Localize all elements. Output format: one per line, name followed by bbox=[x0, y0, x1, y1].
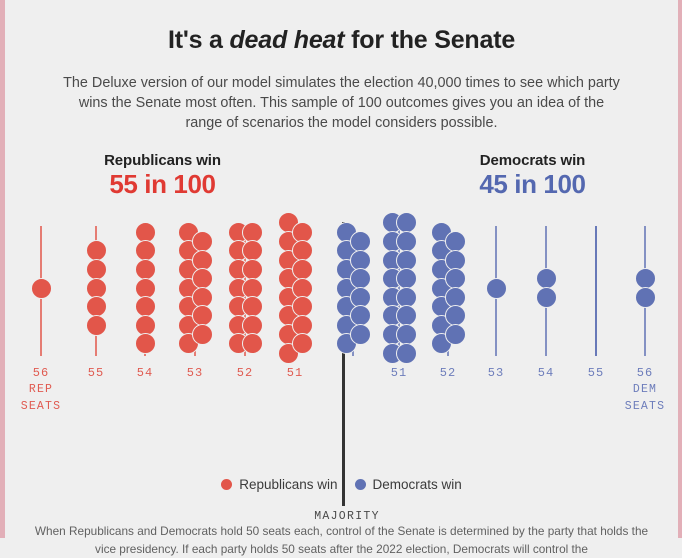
outcome-dot bbox=[635, 287, 656, 308]
legend-item-label: Democrats win bbox=[373, 477, 462, 492]
dot-column-dem-56[interactable] bbox=[623, 218, 667, 468]
win-callouts: Republicans win 55 in 100 Democrats win … bbox=[5, 152, 678, 218]
column-dots bbox=[223, 218, 267, 356]
dot-column-rep-55[interactable] bbox=[74, 218, 118, 468]
dot-column-rep-56[interactable] bbox=[19, 218, 63, 468]
dot-column-rep-52[interactable] bbox=[223, 218, 267, 468]
chart-legend: Republicans winDemocrats win bbox=[5, 477, 678, 492]
column-dots bbox=[173, 218, 217, 356]
column-dots bbox=[474, 218, 518, 356]
outcome-dot bbox=[192, 231, 213, 252]
outcome-dot bbox=[292, 333, 313, 354]
legend-item-label: Republicans win bbox=[239, 477, 337, 492]
callout-republican-label: Republicans win bbox=[45, 152, 280, 169]
column-dots bbox=[331, 218, 375, 356]
outcome-dot bbox=[86, 259, 107, 280]
dot-column-dem-53[interactable] bbox=[474, 218, 518, 468]
outcome-dot bbox=[486, 278, 507, 299]
dot-column-dem-54[interactable] bbox=[524, 218, 568, 468]
right-edge-strip bbox=[678, 0, 682, 538]
column-dots bbox=[273, 218, 317, 356]
title-text-part1: It's a bbox=[168, 26, 230, 54]
column-dots bbox=[74, 218, 118, 356]
callout-democrat: Democrats win 45 in 100 bbox=[415, 152, 650, 200]
outcome-dot bbox=[350, 231, 371, 252]
page-subtitle: The Deluxe version of our model simulate… bbox=[62, 73, 622, 134]
infographic-page: It's a dead heat for the Senate The Delu… bbox=[5, 0, 678, 538]
legend-item-rep[interactable]: Republicans win bbox=[221, 477, 337, 492]
dot-column-rep-51[interactable] bbox=[273, 218, 317, 468]
outcome-dot bbox=[135, 259, 156, 280]
dot-plot: MAJORITY 56REPSEATS555453525151525354555… bbox=[5, 218, 678, 468]
outcome-dot bbox=[242, 333, 263, 354]
column-dots bbox=[377, 218, 421, 356]
column-dots bbox=[524, 218, 568, 356]
dot-column-rep-54[interactable] bbox=[123, 218, 167, 468]
chart-footnote: When Republicans and Democrats hold 50 s… bbox=[31, 522, 652, 558]
dot-column-dem-50[interactable] bbox=[331, 218, 375, 468]
title-text-part2: for the Senate bbox=[344, 26, 515, 54]
outcome-dot bbox=[445, 324, 466, 345]
outcome-dot bbox=[242, 259, 263, 280]
dot-column-dem-51[interactable] bbox=[377, 218, 421, 468]
dot-column-dem-55[interactable] bbox=[574, 218, 618, 468]
outcome-dot bbox=[292, 259, 313, 280]
column-dots bbox=[123, 218, 167, 356]
column-dots bbox=[426, 218, 470, 356]
outcome-dot bbox=[396, 324, 417, 345]
legend-item-dem[interactable]: Democrats win bbox=[355, 477, 462, 492]
column-dots bbox=[19, 218, 63, 356]
outcome-dot bbox=[350, 324, 371, 345]
red-dot-icon bbox=[221, 479, 232, 490]
outcome-dot bbox=[31, 278, 52, 299]
blue-dot-icon bbox=[355, 479, 366, 490]
callout-republican-value: 55 in 100 bbox=[45, 169, 280, 200]
callout-republican: Republicans win 55 in 100 bbox=[45, 152, 280, 200]
dot-column-rep-53[interactable] bbox=[173, 218, 217, 468]
outcome-dot bbox=[86, 315, 107, 336]
column-dots bbox=[574, 218, 618, 356]
title-text-emphasis: dead heat bbox=[229, 26, 344, 54]
outcome-dot bbox=[396, 343, 417, 364]
outcome-dot bbox=[135, 333, 156, 354]
outcome-dot bbox=[445, 231, 466, 252]
column-dots bbox=[623, 218, 667, 356]
callout-democrat-label: Democrats win bbox=[415, 152, 650, 169]
dot-column-dem-52[interactable] bbox=[426, 218, 470, 468]
outcome-dot bbox=[536, 287, 557, 308]
outcome-dot bbox=[192, 324, 213, 345]
callout-democrat-value: 45 in 100 bbox=[415, 169, 650, 200]
page-title: It's a dead heat for the Senate bbox=[5, 17, 678, 55]
outcome-dot bbox=[396, 231, 417, 252]
